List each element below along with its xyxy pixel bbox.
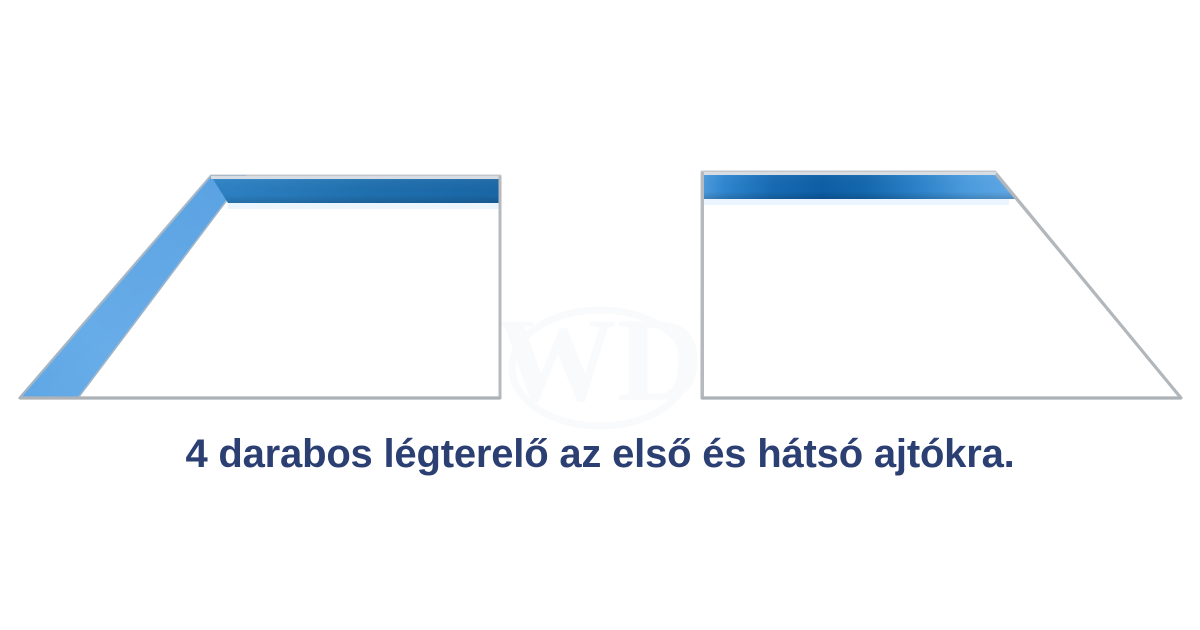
right-panel-band-glow <box>703 199 1009 205</box>
deflector-illustration: WD <box>0 0 1200 630</box>
product-image-canvas: WD <box>0 0 1200 630</box>
watermark: WD <box>497 293 704 426</box>
right-panel-top-band-shading <box>702 172 1017 199</box>
left-panel-band-glow <box>228 203 500 209</box>
product-caption: 4 darabos légterelő az első és hátsó ajt… <box>0 428 1200 480</box>
left-panel-top-band-shading <box>211 176 500 203</box>
